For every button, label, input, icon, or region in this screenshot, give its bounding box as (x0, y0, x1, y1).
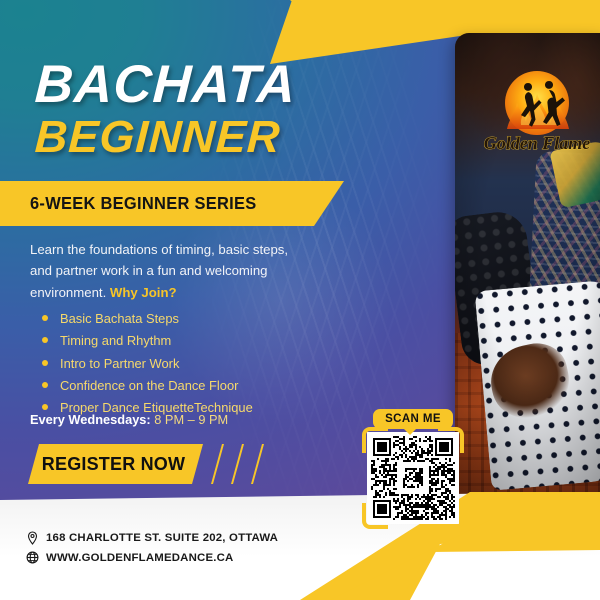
qr-corner-top-left (362, 427, 388, 453)
schedule-line: Every Wednesdays: 8 PM – 9 PM (30, 412, 228, 427)
intro-paragraph: Learn the foundations of timing, basic s… (30, 239, 298, 303)
schedule-label: Every Wednesdays: (30, 412, 151, 427)
contact-address-row: 168 CHARLOTTE ST. SUITE 202, OTTAWA (26, 531, 278, 545)
schedule-time: 8 PM – 9 PM (151, 412, 229, 427)
globe-icon (26, 551, 39, 564)
contact-website-row[interactable]: WWW.GOLDENFLAMEDANCE.CA (26, 551, 278, 564)
list-item: Timing and Rhythm (38, 330, 308, 352)
contact-address-text: 168 CHARLOTTE ST. SUITE 202, OTTAWA (46, 532, 278, 544)
poster-canvas: BACHATA BEGINNER 6-WEEK BEGINNER SERIES … (0, 0, 600, 600)
logo-wordmark: Golden Flame (484, 133, 591, 153)
register-now-button[interactable]: REGISTER NOW (28, 444, 203, 484)
qr-code[interactable] (367, 432, 459, 524)
contact-website-text: WWW.GOLDENFLAMEDANCE.CA (46, 552, 233, 564)
golden-flame-logo: Golden Flame (483, 63, 591, 159)
list-item: Intro to Partner Work (38, 353, 308, 375)
list-item: Basic Bachata Steps (38, 308, 308, 330)
scan-me-label: SCAN ME (385, 413, 441, 425)
series-banner-label: 6-WEEK BEGINNER SERIES (30, 193, 256, 214)
series-banner: 6-WEEK BEGINNER SERIES (0, 181, 344, 226)
benefits-list: Basic Bachata Steps Timing and Rhythm In… (38, 308, 308, 420)
qr-corner-top-right (438, 427, 464, 453)
accent-slash-3 (251, 444, 264, 484)
scan-me-badge: SCAN ME (373, 409, 453, 429)
list-item: Confidence on the Dance Floor (38, 375, 308, 397)
headline-secondary: BEGINNER (34, 115, 436, 158)
dancer-photo-panel: Golden Flame (455, 33, 600, 525)
location-pin-icon (26, 531, 39, 545)
register-button-label: REGISTER NOW (42, 454, 185, 475)
accent-slash-2 (231, 444, 244, 484)
register-group: REGISTER NOW (28, 444, 278, 484)
accent-slash-1 (211, 444, 224, 484)
qr-corner-bottom-right (438, 503, 464, 529)
flame-logo-icon: Golden Flame (483, 63, 591, 159)
headline-group: BACHATA BEGINNER (35, 60, 435, 158)
contact-block: 168 CHARLOTTE ST. SUITE 202, OTTAWA WWW.… (26, 531, 278, 570)
why-join-label: Why Join? (110, 285, 177, 300)
headline-primary: BACHATA (34, 60, 437, 111)
qr-corner-bottom-left (362, 503, 388, 529)
